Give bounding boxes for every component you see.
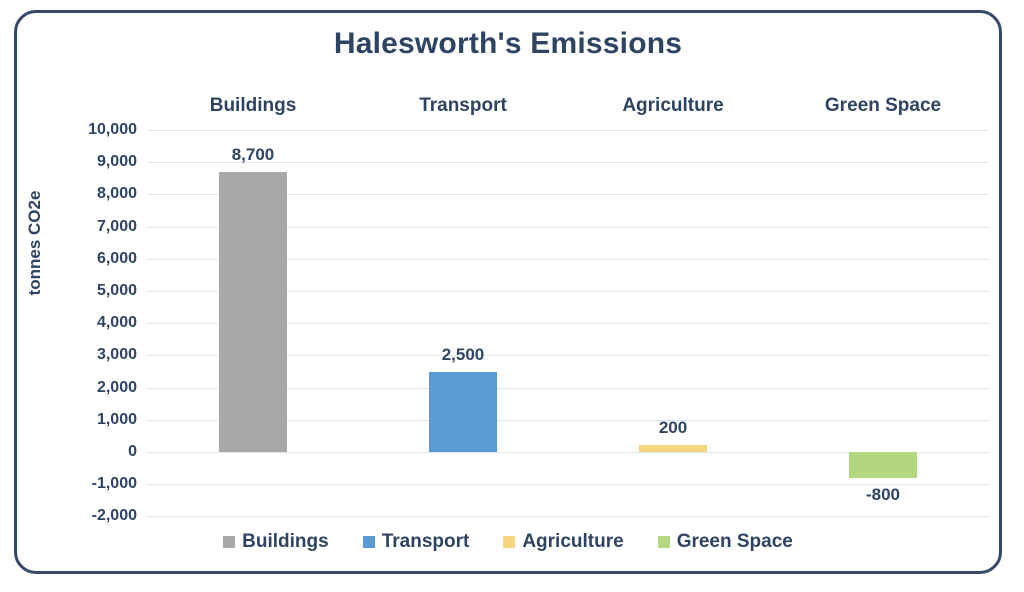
bar-column-buildings: Buildings 8,700 [148,130,358,516]
legend-item-green-space[interactable]: Green Space [658,531,793,553]
legend-item-buildings[interactable]: Buildings [223,531,329,553]
bar-column-transport: Transport 2,500 [358,130,568,516]
y-tick-label: 3,000 [97,346,137,364]
y-tick-label: 8,000 [97,185,137,203]
value-label-green-space: -800 [778,485,988,505]
category-label-agriculture: Agriculture [568,95,778,117]
y-tick-label: 2,000 [97,379,137,397]
legend-swatch-icon [223,536,235,548]
bar-agriculture[interactable] [639,445,707,452]
legend-label-agriculture: Agriculture [522,531,623,553]
y-tick-label: 10,000 [88,121,137,139]
legend-item-transport[interactable]: Transport [363,531,470,553]
y-tick-label: 1,000 [97,411,137,429]
legend-label-transport: Transport [382,531,470,553]
category-label-green-space: Green Space [778,95,988,117]
gridline: -2,000 [148,516,988,517]
legend-swatch-icon [363,536,375,548]
bar-green-space[interactable] [849,452,917,478]
y-tick-label: 0 [128,443,137,461]
legend-item-agriculture[interactable]: Agriculture [503,531,623,553]
legend-swatch-icon [658,536,670,548]
legend-swatch-icon [503,536,515,548]
plot-area: 10,000 9,000 8,000 7,000 6,000 5,000 4,0… [148,130,988,516]
y-tick-label: 5,000 [97,282,137,300]
y-tick-label: 9,000 [97,153,137,171]
bar-column-agriculture: Agriculture 200 [568,130,778,516]
value-label-buildings: 8,700 [148,145,358,165]
y-tick-label: 6,000 [97,250,137,268]
y-axis-title: tonnes CO2e [25,163,45,323]
y-tick-label: 4,000 [97,314,137,332]
category-label-buildings: Buildings [148,95,358,117]
y-tick-label: -1,000 [92,475,137,493]
legend-label-buildings: Buildings [242,531,329,553]
chart-legend: Buildings Transport Agriculture Green Sp… [17,531,999,553]
value-label-transport: 2,500 [358,345,568,365]
chart-card: Halesworth's Emissions tonnes CO2e 10,00… [14,10,1002,574]
category-label-transport: Transport [358,95,568,117]
chart-title: Halesworth's Emissions [17,27,999,61]
bar-buildings[interactable] [219,172,287,452]
bar-column-green-space: Green Space -800 [778,130,988,516]
value-label-agriculture: 200 [568,418,778,438]
legend-label-green-space: Green Space [677,531,793,553]
y-tick-label: 7,000 [97,218,137,236]
bar-transport[interactable] [429,372,497,452]
y-tick-label: -2,000 [92,507,137,525]
